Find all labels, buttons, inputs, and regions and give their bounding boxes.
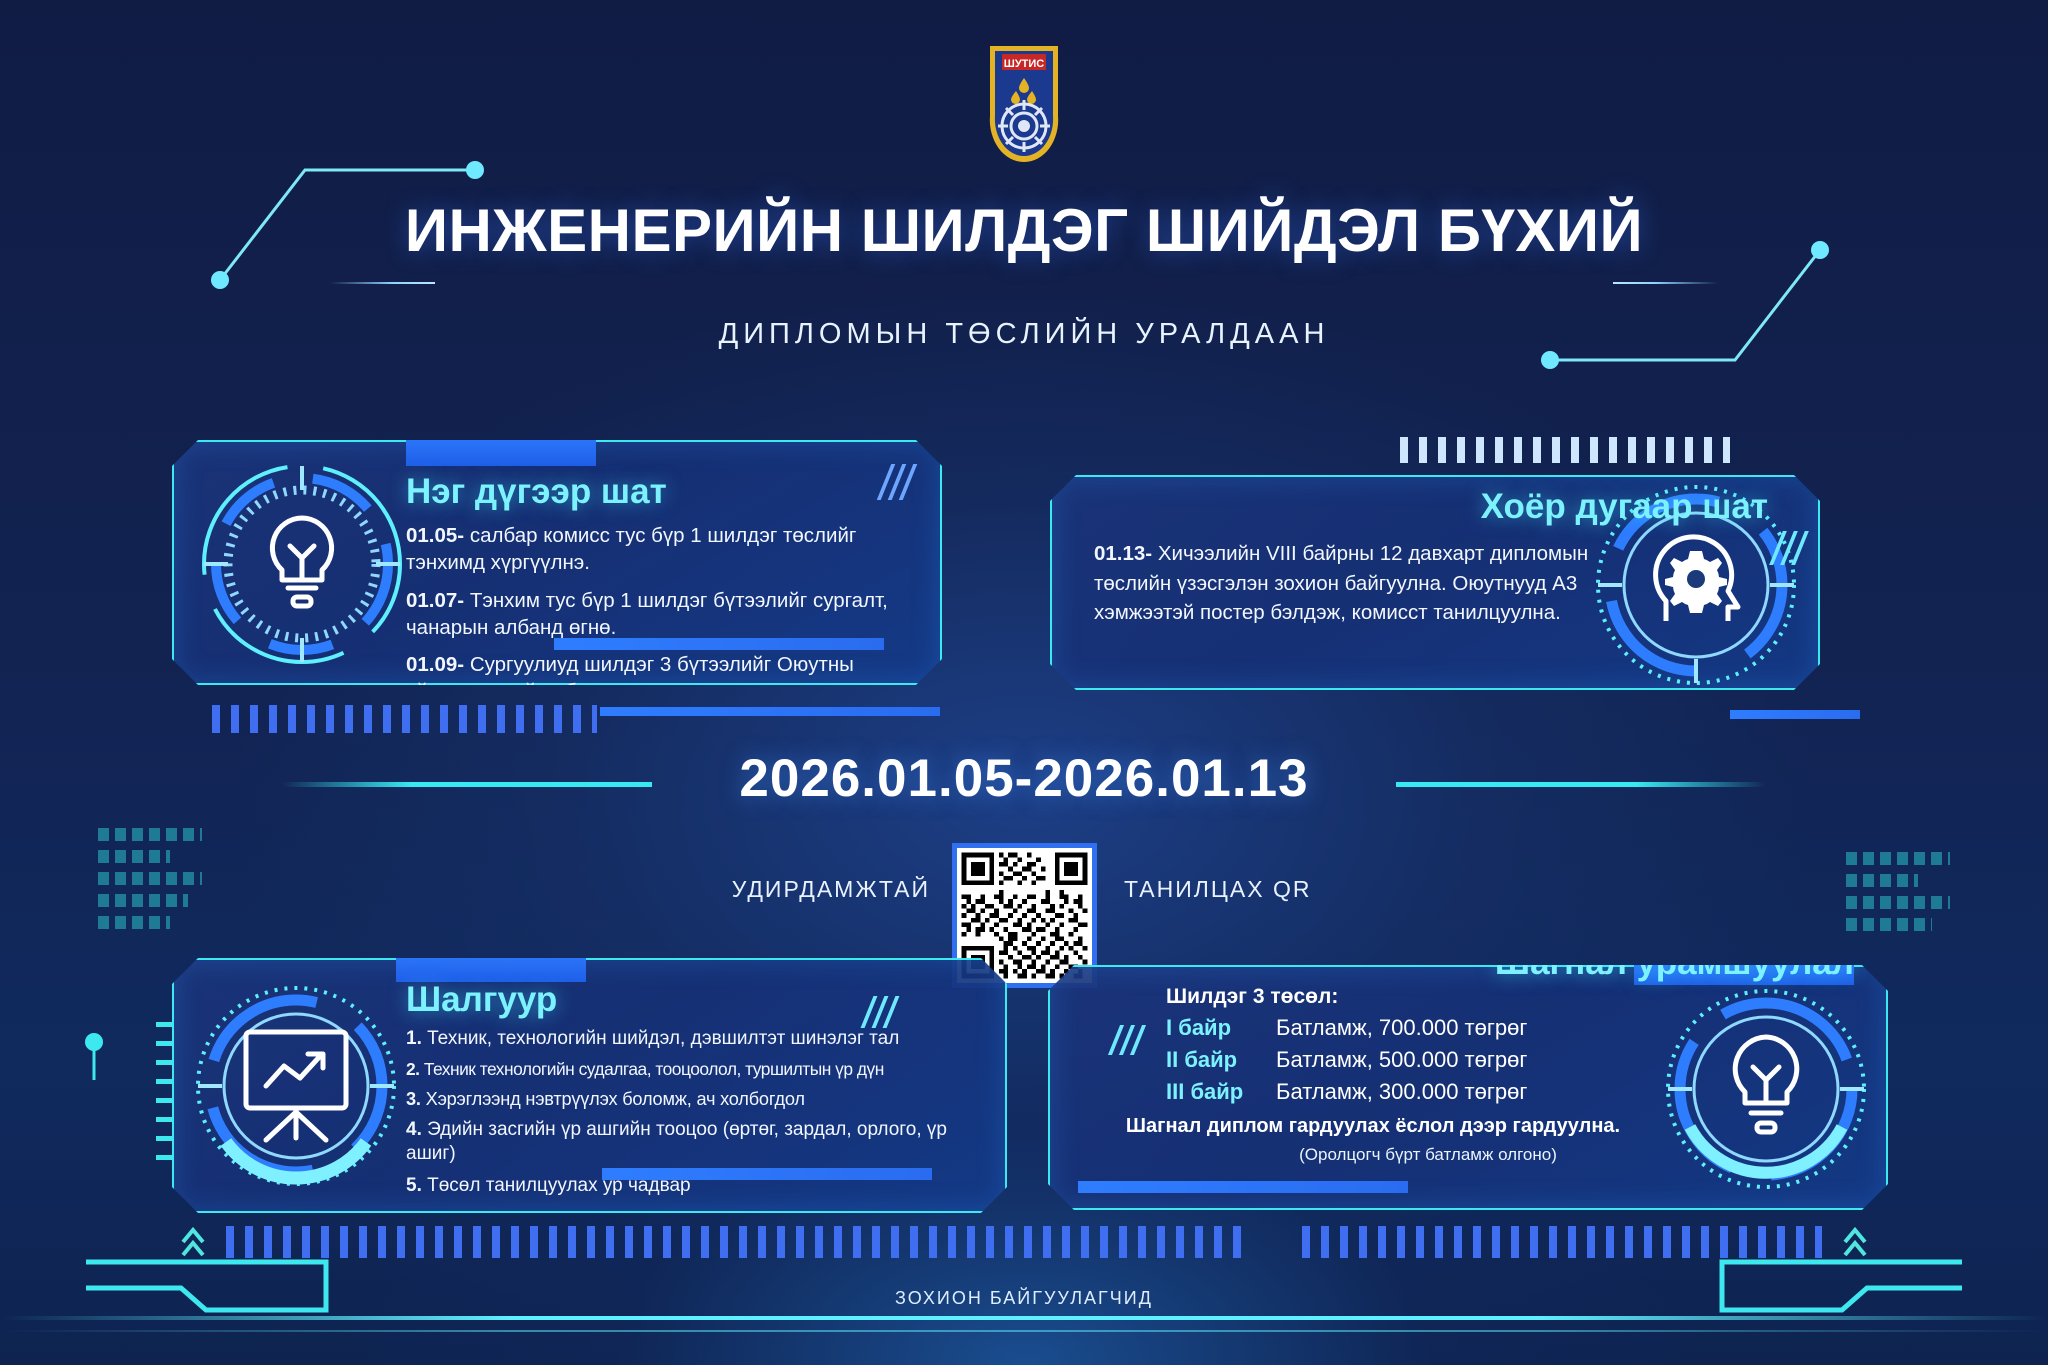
accent-bar-2 bbox=[1730, 710, 1860, 719]
dashed-bar-bottom-left bbox=[226, 1226, 1246, 1258]
dot-matrix-left bbox=[98, 828, 202, 938]
awards-heading: Шилдэг 3 төсөл: bbox=[1166, 985, 1666, 1009]
accent-bar-1 bbox=[600, 707, 940, 716]
dot-matrix-right bbox=[1846, 852, 1950, 940]
criteria-text: Эдийн засгийн үр ашгийн тооцоо (өртөг, з… bbox=[406, 1119, 947, 1164]
criteria-item: 4. Эдийн засгийн үр ашгийн тооцоо (өртөг… bbox=[406, 1118, 971, 1167]
page-subtitle: ДИПЛОМЫН ТӨСЛИЙН УРАЛДААН bbox=[0, 318, 2048, 351]
stage-one-text: салбар комисс тус бүр 1 шилдэг төслийг т… bbox=[406, 524, 856, 574]
award-prize: Батламж, 500.000 төгрөг bbox=[1276, 1047, 1527, 1073]
lightbulb-icon bbox=[1662, 985, 1870, 1193]
stage-two-date: 01.13- bbox=[1094, 542, 1152, 565]
criteria-item: 5. Төсөл танилцуулах ур чадвар bbox=[406, 1174, 971, 1198]
criteria-number: 4. bbox=[406, 1119, 422, 1140]
stage-one-item: 01.07- Тэнхим тус бүр 1 шилдэг бүтээлийг… bbox=[406, 588, 898, 642]
awards-subnote: (Оролцогч бүрт батламж олгоно) bbox=[1080, 1145, 1666, 1165]
award-place: I байр bbox=[1166, 1015, 1262, 1041]
svg-text:ШУТИС: ШУТИС bbox=[1004, 58, 1045, 70]
criteria-item: 2. Техник технологийн судалгаа, тооцооло… bbox=[406, 1058, 971, 1080]
dashed-bar-stage-two bbox=[1400, 437, 1730, 463]
criteria-text: Төсөл танилцуулах ур чадвар bbox=[422, 1175, 691, 1196]
lightbulb-icon bbox=[198, 460, 406, 668]
criteria-number: 1. bbox=[406, 1028, 422, 1049]
criteria-number: 3. bbox=[406, 1089, 421, 1109]
stage-one-date: 01.07- bbox=[406, 589, 464, 612]
awards-note: Шагнал диплом гардуулах ёслол дээр гарду… bbox=[1080, 1115, 1666, 1138]
dashed-bar-stage-one bbox=[212, 705, 597, 733]
footer-glow-line-2 bbox=[0, 1330, 2048, 1332]
presentation-chart-icon bbox=[192, 982, 400, 1190]
date-rule-right bbox=[1396, 782, 1766, 787]
stage-one-date: 01.05- bbox=[406, 524, 464, 547]
award-place: III байр bbox=[1166, 1079, 1262, 1105]
criteria-text: Хэрэглээнд нэвтрүүлэх боломж, ач холбогд… bbox=[421, 1089, 805, 1109]
award-row: I байр Батламж, 700.000 төгрөг bbox=[1166, 1015, 1666, 1041]
stage-one-title: Нэг дүгээр шат bbox=[406, 472, 898, 512]
criteria-card: Шалгуур 1. Техник, технологийн шийдэл, д… bbox=[172, 958, 1007, 1213]
criteria-title: Шалгуур bbox=[406, 980, 971, 1020]
chevron-up-icon-left bbox=[180, 1222, 206, 1260]
organizers-label: ЗОХИОН БАЙГУУЛАГЧИД bbox=[0, 1288, 2048, 1309]
stage-two-card: Хоёр дугаар шат 01.13- Хичээлийн VIII ба… bbox=[1050, 475, 1820, 690]
tick-column-left bbox=[156, 1022, 172, 1172]
title-rule-right bbox=[1613, 282, 1718, 284]
stage-one-date: 01.09- bbox=[406, 653, 464, 676]
page-title: ИНЖЕНЕРИЙН ШИЛДЭГ ШИЙДЭЛ БҮХИЙ bbox=[0, 196, 2048, 265]
title-rule-left bbox=[330, 282, 435, 284]
criteria-number: 5. bbox=[406, 1175, 422, 1196]
footer-glow-line bbox=[0, 1316, 2048, 1320]
stage-one-card: Нэг дүгээр шат 01.05- салбар комисс тус … bbox=[172, 440, 942, 685]
shutis-university-crest: ШУТИС bbox=[982, 38, 1066, 166]
award-prize: Батламж, 700.000 төгрөг bbox=[1276, 1015, 1527, 1041]
dashed-bar-bottom-right bbox=[1302, 1226, 1822, 1258]
criteria-text: Техник технологийн судалгаа, тооцоолол, … bbox=[420, 1059, 884, 1079]
stage-two-item: 01.13- Хичээлийн VIII байрны 12 давхарт … bbox=[1094, 539, 1618, 628]
criteria-text: Техник, технологийн шийдэл, дэвшилтэт ши… bbox=[422, 1028, 899, 1049]
award-prize: Батламж, 300.000 төгрөг bbox=[1276, 1079, 1527, 1105]
criteria-item: 3. Хэрэглээнд нэвтрүүлэх боломж, ач холб… bbox=[406, 1088, 971, 1111]
criteria-number: 2. bbox=[406, 1059, 420, 1079]
stage-two-text: Хичээлийн VIII байрны 12 давхарт дипломы… bbox=[1094, 542, 1588, 624]
stage-one-item: 01.05- салбар комисс тус бүр 1 шилдэг тө… bbox=[406, 523, 898, 577]
awards-card: Шагнал урамшуулал Шилдэг 3 төсөл: I байр… bbox=[1048, 965, 1888, 1210]
criteria-item: 1. Техник, технологийн шийдэл, дэвшилтэт… bbox=[406, 1027, 971, 1051]
accent-bar-awards bbox=[1078, 1181, 1408, 1193]
stage-one-text: Тэнхим тус бүр 1 шилдэг бүтээлийг сургал… bbox=[406, 589, 888, 639]
qr-label-right: ТАНИЛЦАХ QR bbox=[1124, 876, 1384, 903]
award-place: II байр bbox=[1166, 1047, 1262, 1073]
date-range: 2026.01.05-2026.01.13 bbox=[0, 748, 2048, 809]
award-row: II байр Батламж, 500.000 төгрөг bbox=[1166, 1047, 1666, 1073]
node-dot-left bbox=[84, 1030, 154, 1090]
chevron-up-icon-right bbox=[1842, 1222, 1868, 1260]
stage-two-title: Хоёр дугаар шат bbox=[1248, 487, 1768, 527]
award-row: III байр Батламж, 300.000 төгрөг bbox=[1166, 1079, 1666, 1105]
qr-label-left: УДИРДАМЖТАЙ bbox=[690, 876, 930, 903]
